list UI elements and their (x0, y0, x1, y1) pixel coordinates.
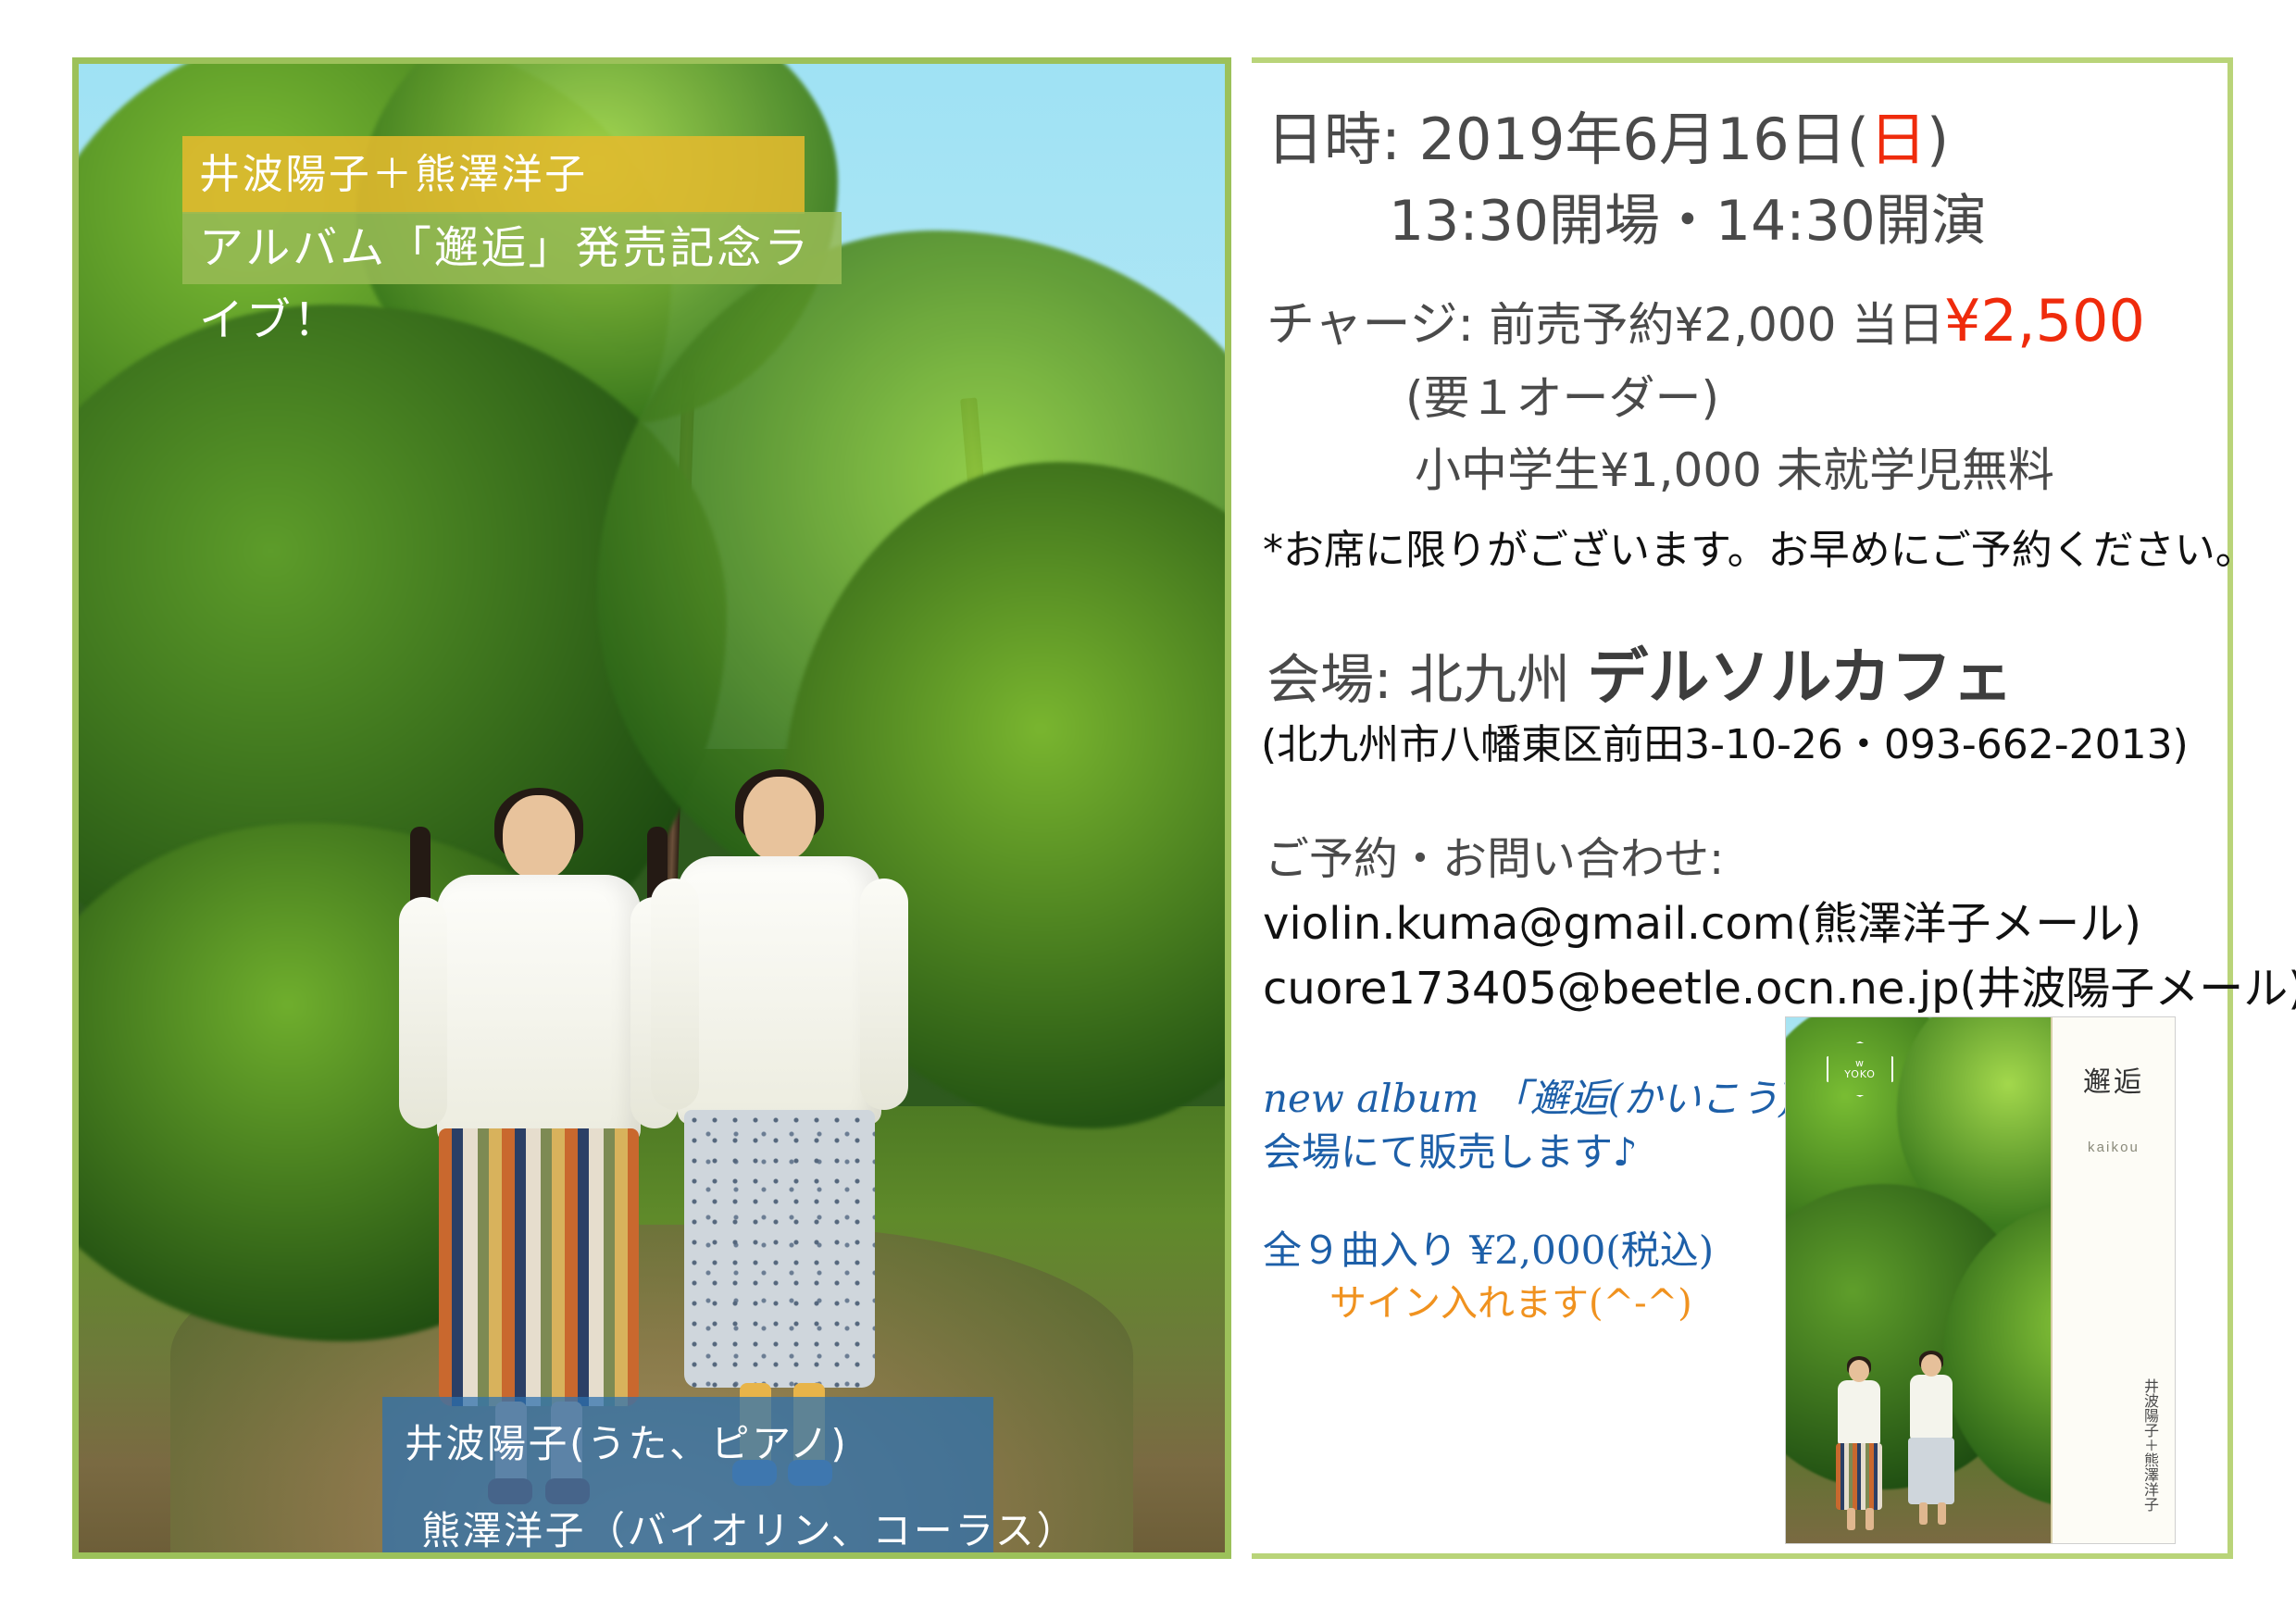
photo-panel: 井波陽子＋熊澤洋子 アルバム「邂逅」発売記念ライブ！ 井波陽子(うた、ピアノ) … (72, 57, 1231, 1559)
venue-name: デルソルカフェ (1587, 642, 2013, 713)
artists-title-band: 井波陽子＋熊澤洋子 (182, 136, 805, 214)
blouse-shape (1910, 1375, 1953, 1439)
leg-shape (1847, 1508, 1855, 1530)
performer-credits-band: 井波陽子(うた、ピアノ) 熊澤洋子（バイオリン、コーラス） (382, 1397, 993, 1559)
striped-skirt (439, 1128, 639, 1406)
contact-label: ご予約・お問い合わせ: (1265, 822, 1724, 887)
blouse-shape (437, 875, 641, 1143)
door-label: 当日 (1852, 298, 1944, 352)
poster-root: 井波陽子＋熊澤洋子 アルバム「邂逅」発売記念ライブ！ 井波陽子(うた、ピアノ) … (0, 0, 2296, 1620)
info-panel: 日時: 2019年6月16日(日) 13:30開場・14:30開演 チャージ: … (1252, 57, 2233, 1559)
floral-skirt (1908, 1438, 1954, 1504)
album-artist-names: 井波陽子＋熊澤洋子 (2140, 1378, 2158, 1512)
event-date-line: 日時: 2019年6月16日(日) (1267, 93, 1949, 176)
charge-line: チャージ: 前売予約¥2,000 当日¥2,500 (1267, 285, 2145, 355)
venue-line: 会場: 北九州 デルソルカフェ (1267, 628, 2013, 717)
credit-line-2: 熊澤洋子（バイオリン、コーラス） (405, 1488, 984, 1559)
leg-shape (1919, 1502, 1928, 1525)
performer-figure-right (655, 777, 905, 1499)
album-figure-right (1910, 1375, 1953, 1439)
blouse-shape (1838, 1380, 1880, 1445)
album-title-band: アルバム「邂逅」発売記念ライブ！ (182, 212, 842, 284)
album-logo-icon: w YOKO (1827, 1041, 1893, 1097)
charge-label: チャージ: (1267, 297, 1474, 353)
album-promo-block: new album 「邂逅(かいこう)」 会場にて販売します♪ 全９曲入り ¥2… (1263, 1072, 1763, 1329)
date-label: 日時: (1267, 106, 1401, 173)
advance-price: 前売予約¥2,000 (1490, 298, 1837, 352)
head-shape (1921, 1354, 1941, 1377)
email-address-2[interactable]: cuore173405@beetle.ocn.ne.jp(井波陽子メール) (1263, 952, 2296, 1016)
floral-skirt (684, 1110, 875, 1388)
email-address-1[interactable]: violin.kuma@gmail.com(熊澤洋子メール) (1263, 887, 2141, 952)
promo-line-1: new album 「邂逅(かいこう)」 (1263, 1072, 1763, 1126)
album-figure-left (1838, 1380, 1880, 1445)
door-price: ¥2,500 (1944, 287, 2145, 355)
head-shape (1849, 1360, 1869, 1382)
head-shape (503, 795, 575, 880)
date-value: 2019年6月16日( (1419, 106, 1869, 173)
leg-shape (1865, 1508, 1874, 1530)
event-time-line: 13:30開場・14:30開演 (1389, 176, 1987, 256)
credit-line-1: 井波陽子(うた、ピアノ) (405, 1401, 984, 1488)
promo-line-3: 全９曲入り ¥2,000(税込) (1263, 1224, 1763, 1277)
leg-shape (1938, 1502, 1946, 1525)
arm-shape (860, 879, 908, 1110)
logo-line-2: YOKO (1844, 1069, 1876, 1080)
weekday-badge: 日 (1869, 106, 1927, 173)
head-shape (743, 777, 816, 862)
venue-address: (北九州市八幡東区前田3-10-26・093-662-2013) (1261, 711, 2189, 770)
date-close-paren: ) (1927, 106, 1949, 173)
album-title-text: 邂逅 (2053, 1067, 2175, 1099)
arm-shape (651, 879, 699, 1110)
student-price-line: 小中学生¥1,000 未就学児無料 (1415, 433, 2054, 500)
preschool-note: 未就学児無料 (1777, 443, 2054, 497)
album-romaji-text: kaikou (2053, 1140, 2175, 1155)
arm-shape (399, 897, 447, 1128)
venue-label: 会場: 北九州 (1267, 648, 1570, 711)
album-title-strip: 邂逅 kaikou 井波陽子＋熊澤洋子 (2051, 1017, 2175, 1543)
album-cover-image: w YOKO 邂逅 kaikou 井波陽子＋熊澤洋子 (1785, 1016, 2176, 1544)
seat-availability-note: *お席に限りがございます。お早めにご予約ください。 (1263, 517, 2256, 576)
order-requirement-note: (要１オーダー) (1405, 361, 1719, 428)
promo-line-2: 会場にて販売します♪ (1263, 1126, 1763, 1179)
blouse-shape (678, 856, 881, 1125)
promo-line-4: サイン入れます(^-^) (1263, 1277, 1763, 1329)
performer-figure-left (405, 795, 673, 1499)
student-price: 小中学生¥1,000 (1415, 443, 1762, 497)
striped-skirt (1836, 1443, 1882, 1510)
